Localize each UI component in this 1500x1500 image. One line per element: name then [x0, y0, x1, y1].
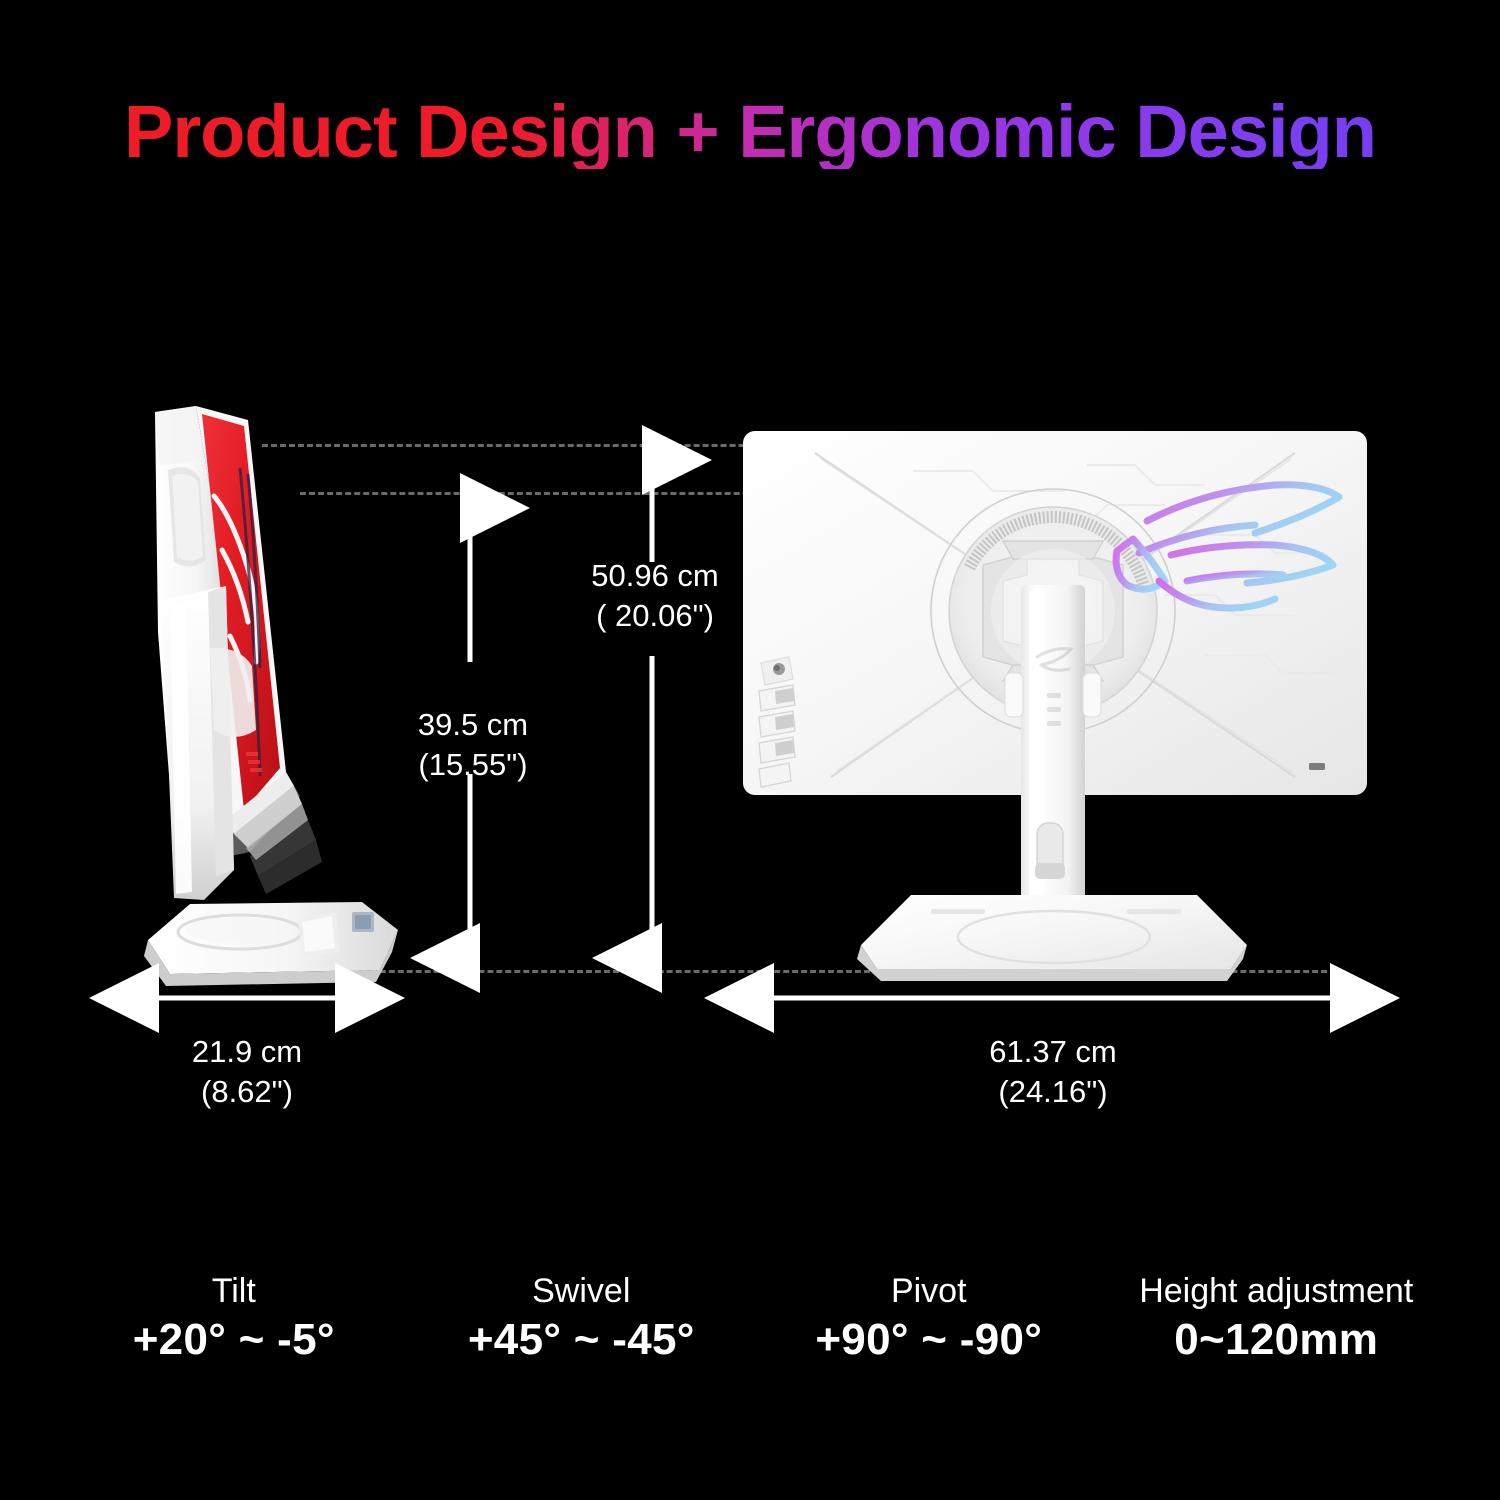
spec-pivot: Pivot +90° ~ -90°: [755, 1272, 1103, 1368]
panel-height-cm: 39.5 cm: [418, 707, 528, 742]
spec-swivel-label: Swivel: [408, 1272, 756, 1311]
rear-view: [735, 425, 1375, 985]
rear-control-buttons: [759, 657, 795, 787]
dimension-arrow-depth: [133, 985, 361, 1011]
side-stand-base: [144, 902, 398, 986]
total-height-inch: ( 20.06"): [596, 598, 714, 633]
ergonomics-spec-row: Tilt +20° ~ -5° Swivel +45° ~ -45° Pivot…: [60, 1272, 1450, 1368]
spec-tilt: Tilt +20° ~ -5°: [60, 1272, 408, 1368]
spec-swivel-value: +45° ~ -45°: [408, 1311, 756, 1368]
product-spec-page: Product Design + Ergonomic Design: [0, 0, 1500, 1500]
spec-tilt-value: +20° ~ -5°: [60, 1311, 408, 1368]
dimension-label-width: 61.37 cm (24.16"): [958, 1032, 1148, 1111]
spec-tilt-label: Tilt: [60, 1272, 408, 1311]
rear-stand-base: [857, 895, 1247, 981]
spec-swivel: Swivel +45° ~ -45°: [408, 1272, 756, 1368]
dimension-arrow-total-height: [640, 444, 664, 974]
spec-height-value: 0~120mm: [1103, 1311, 1451, 1368]
total-height-cm: 50.96 cm: [591, 558, 719, 593]
dimension-label-depth: 21.9 cm (8.62"): [152, 1032, 342, 1111]
panel-height-inch: (15.55"): [418, 747, 527, 782]
dimension-label-panel-height: 39.5 cm (15.55"): [378, 705, 568, 784]
page-title: Product Design + Ergonomic Design: [0, 95, 1500, 169]
depth-inch: (8.62"): [201, 1074, 293, 1109]
spec-pivot-value: +90° ~ -90°: [755, 1311, 1103, 1368]
spec-height-label: Height adjustment: [1103, 1272, 1451, 1311]
dimension-label-total-height: 50.96 cm ( 20.06"): [560, 556, 750, 635]
width-inch: (24.16"): [998, 1074, 1107, 1109]
depth-cm: 21.9 cm: [192, 1034, 302, 1069]
width-cm: 61.37 cm: [989, 1034, 1117, 1069]
spec-pivot-label: Pivot: [755, 1272, 1103, 1311]
dimension-arrow-width: [748, 985, 1356, 1011]
spec-height-adjustment: Height adjustment 0~120mm: [1103, 1272, 1451, 1368]
side-profile-view: [130, 400, 430, 1000]
